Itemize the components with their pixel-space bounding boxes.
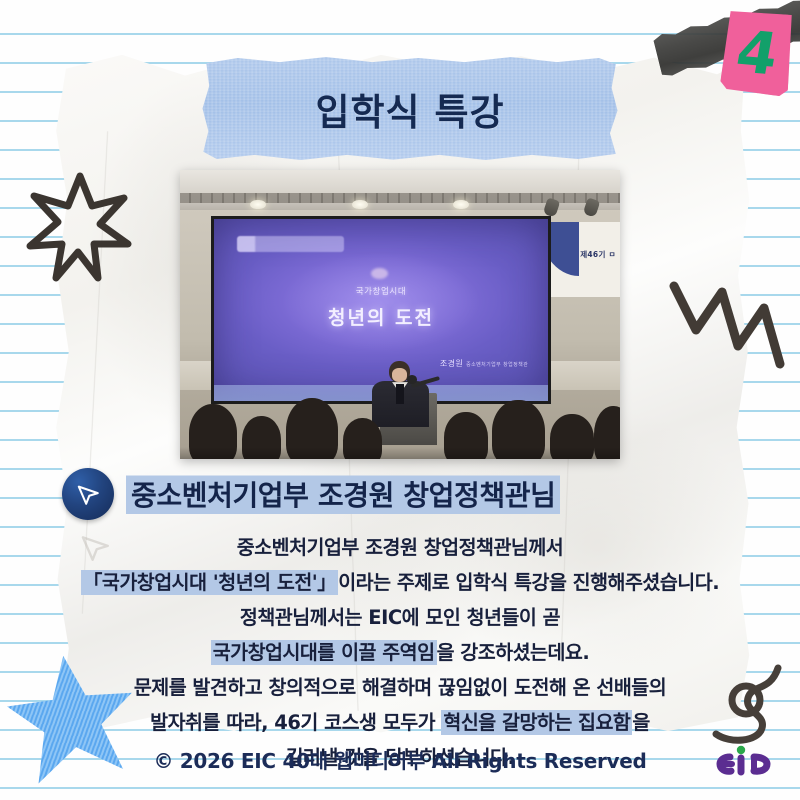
photo-ceiling-light [352,200,368,209]
photo-speaker-face [392,368,407,381]
footer: © 2026 EIC 40대 웹미디어부 All Rights Reserved [0,745,800,774]
body-paragraph: 중소벤처기업부 조경원 창업정책관님께서「국가창업시대 '청년의 도전'」이라는… [50,530,750,775]
badge-number: 4 [732,23,782,84]
photo-slide-title: 청년의 도전 [214,303,548,330]
heading-text: 중소벤처기업부 조경원 창업정책관님 [126,472,560,516]
cursor-arrow-icon [62,468,114,520]
highlighted-phrase: 혁신을 갈망하는 집요함 [441,710,632,735]
body-text: 발자취를 따라, 46기 코스생 모두가 [150,711,441,734]
photo-slide-speaker-name: 조경원 [440,359,463,368]
body-line: 중소벤처기업부 조경원 창업정책관님께서 [50,530,750,565]
section-heading: 중소벤처기업부 조경원 창업정책관님 [62,468,752,520]
lecture-photo: 제46기 ㅁ 국가창업시대 청년의 도전 조경원중소벤처기업부 창업정책관 [180,170,620,459]
photo-banner-text: 제46기 ㅁ [580,249,616,260]
body-text: 을 강조하셨는데요. [437,641,590,664]
highlighted-phrase: 「국가창업시대 '청년의 도전'」 [81,570,338,595]
body-text: 문제를 발견하고 창의적으로 해결하며 끊임없이 도전해 온 선배들의 [134,676,666,699]
body-text: 이라는 주제로 입학식 특강을 진행해주셨습니다. [338,571,719,594]
highlighted-phrase: 국가창업시대를 이끌 주역임 [211,640,437,665]
photo-slide-ministry-logo [237,236,344,252]
body-line: 국가창업시대를 이끌 주역임을 강조하셨는데요. [50,635,750,670]
photo-slide-speaker-title: 중소벤처기업부 창업정책관 [466,362,528,368]
page-title: 입학식 특강 [315,82,504,136]
photo-speaker-tie [396,384,403,404]
body-line: 「국가창업시대 '청년의 도전'」이라는 주제로 입학식 특강을 진행해주셨습니… [50,565,750,600]
body-line: 문제를 발견하고 창의적으로 해결하며 끊임없이 도전해 온 선배들의 [50,670,750,705]
body-line: 정책관님께서는 EIC에 모인 청년들이 곧 [50,600,750,635]
body-text: 정책관님께서는 EIC에 모인 청년들이 곧 [240,606,560,629]
copyright-text: © 2026 EIC 40대 웹미디어부 All Rights Reserved [0,745,800,774]
body-text: 중소벤처기업부 조경원 창업정책관님께서 [237,536,564,559]
photo-slide-subtitle: 국가창업시대 [214,285,548,297]
eid-logo [710,744,778,780]
number-badge-sticker: 4 [720,9,795,97]
photo-microphone [407,375,417,384]
photo-side-banner: 제46기 ㅁ [550,222,620,297]
body-text: 을 [632,711,649,734]
photo-slide-speaker: 조경원중소벤처기업부 창업정책관 [440,358,528,369]
card-news-slide: 4 입학식 특강 제46기 ㅁ 국가창업시대 청년의 도전 조경원중소벤처기업부… [0,0,800,800]
body-line: 발자취를 따라, 46기 코스생 모두가 혁신을 갈망하는 집요함을 [50,705,750,740]
photo-bottom-fade [180,447,620,459]
title-brush-band: 입학식 특강 [200,57,620,160]
photo-projection-screen: 국가창업시대 청년의 도전 조경원중소벤처기업부 창업정책관 [211,216,551,404]
photo-ceiling-light [453,200,469,209]
